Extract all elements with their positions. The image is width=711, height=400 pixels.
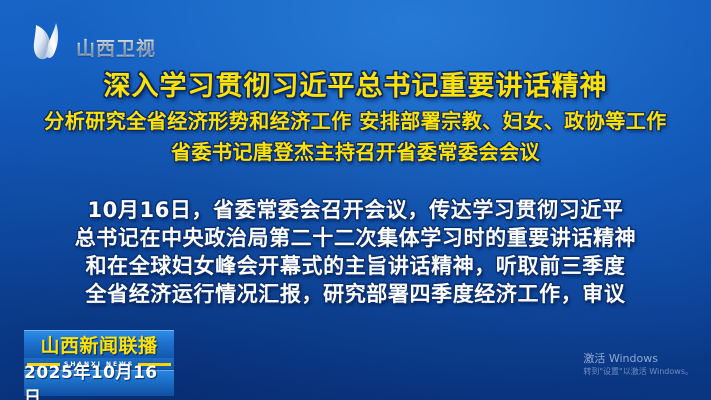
- channel-name: 山西卫视: [76, 34, 156, 61]
- news-body: 10月16日，省委常委会召开会议，传达学习贯彻习近平 总书记在中央政治局第二十二…: [0, 196, 711, 308]
- program-title: 山西新闻联播: [40, 331, 157, 358]
- program-date-bar: 2025年10月16日: [24, 370, 174, 396]
- page-title: 深入学习贯彻习近平总书记重要讲话精神: [0, 70, 711, 104]
- body-line: 全省经济运行情况汇报，研究部署四季度经济工作，审议: [0, 280, 711, 308]
- program-banner: 山西新闻联播 SHANXI NEWS 2025年10月16日: [24, 330, 174, 396]
- windows-activation-watermark: 激活 Windows 转到"设置"以激活 Windows。: [583, 352, 693, 378]
- body-line: 总书记在中央政治局第二十二次集体学习时的重要讲话精神: [0, 224, 711, 252]
- watermark-title: 激活 Windows: [583, 352, 693, 366]
- channel-logo-text: 山西卫视: [76, 15, 156, 68]
- broadcast-screen: 山西卫视 深入学习贯彻习近平总书记重要讲话精神 分析研究全省经济形势和经济工作 …: [0, 0, 711, 400]
- watermark-subtitle: 转到"设置"以激活 Windows。: [583, 366, 693, 378]
- program-title-bar: 山西新闻联播: [24, 330, 174, 358]
- headline-block: 深入学习贯彻习近平总书记重要讲话精神 分析研究全省经济形势和经济工作 安排部署宗…: [0, 70, 711, 166]
- body-line: 10月16日，省委常委会召开会议，传达学习贯彻习近平: [0, 196, 711, 224]
- body-line: 和在全球妇女峰会开幕式的主旨讲话精神，听取前三季度: [0, 252, 711, 280]
- subtitle-line-1: 分析研究全省经济形势和经济工作 安排部署宗教、妇女、政协等工作: [0, 108, 711, 135]
- subtitle-line-2: 省委书记唐登杰主持召开省委常委会会议: [0, 139, 711, 166]
- shanxi-tv-leaf-emblem-icon: [26, 18, 72, 64]
- channel-logo: 山西卫视: [26, 16, 206, 66]
- broadcast-date: 2025年10月16日: [24, 358, 174, 400]
